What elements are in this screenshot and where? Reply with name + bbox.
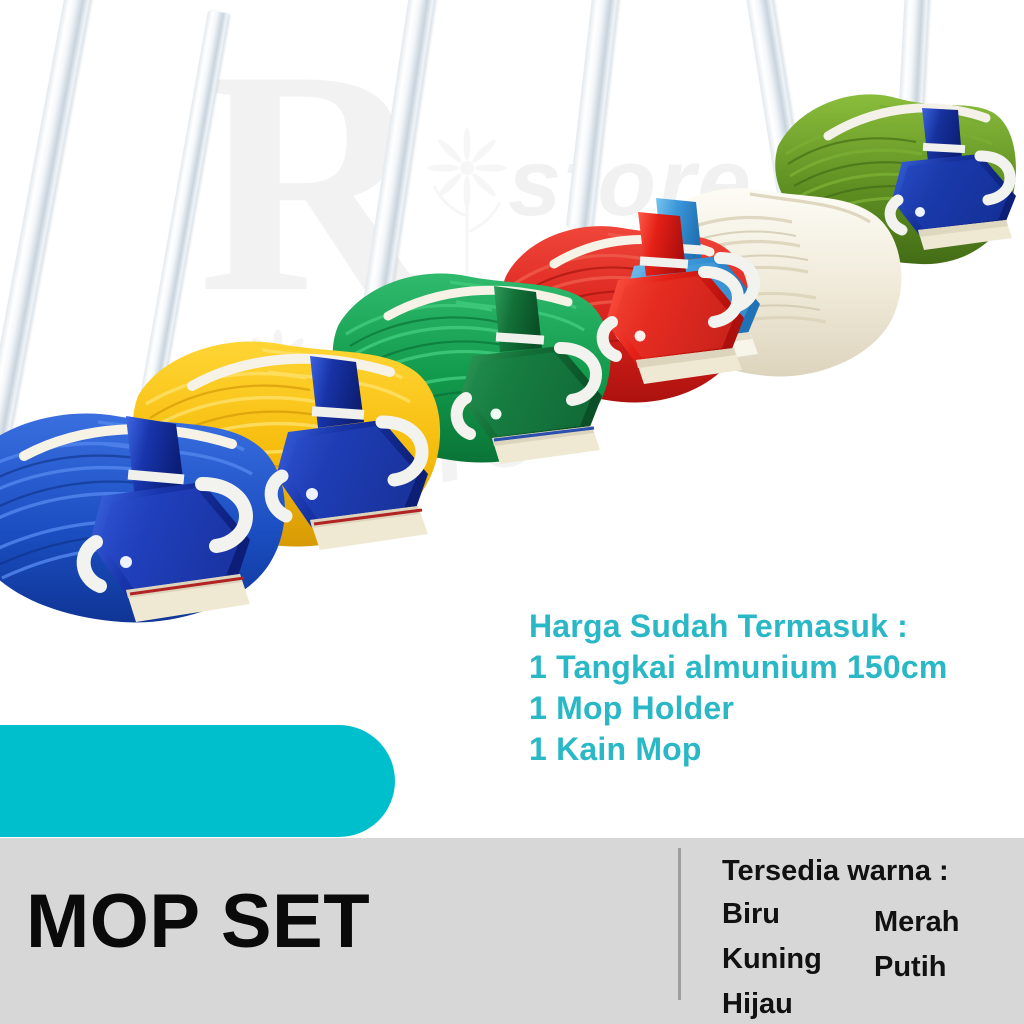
page-title: MOP SET: [26, 884, 370, 960]
mop-holder-blue-right: [884, 104, 1024, 264]
mop-handle-1: [0, 0, 93, 455]
color-item-kuning: Kuning: [722, 937, 822, 982]
mop-holder-green: [450, 286, 650, 496]
price-includes-text: Harga Sudah Termasuk : 1 Tangkai almuniu…: [529, 606, 948, 770]
product-photo: R store store: [0, 0, 1024, 838]
color-item-hijau: Hijau: [722, 982, 822, 1024]
colors-column-left: Biru Kuning Hijau: [722, 892, 822, 1024]
info-line-1: Harga Sudah Termasuk :: [529, 606, 948, 647]
footer-divider: [678, 848, 681, 1000]
info-line-4: 1 Kain Mop: [529, 729, 948, 770]
info-line-3: 1 Mop Holder: [529, 688, 948, 729]
available-colors-heading: Tersedia warna :: [722, 852, 949, 890]
teal-accent-banner: [0, 725, 395, 837]
color-item-merah: Merah: [874, 900, 959, 945]
available-colors-columns: Biru Kuning Hijau Merah Putih: [722, 892, 949, 1024]
available-colors-block: Tersedia warna : Biru Kuning Hijau Merah…: [722, 852, 949, 1024]
colors-column-right: Merah Putih: [874, 900, 959, 990]
color-item-biru: Biru: [722, 892, 822, 937]
info-line-2: 1 Tangkai almunium 150cm: [529, 647, 948, 688]
product-listing-image: R store store: [0, 0, 1024, 1024]
mop-holder-blue-left: [84, 416, 304, 656]
color-item-putih: Putih: [874, 945, 959, 990]
